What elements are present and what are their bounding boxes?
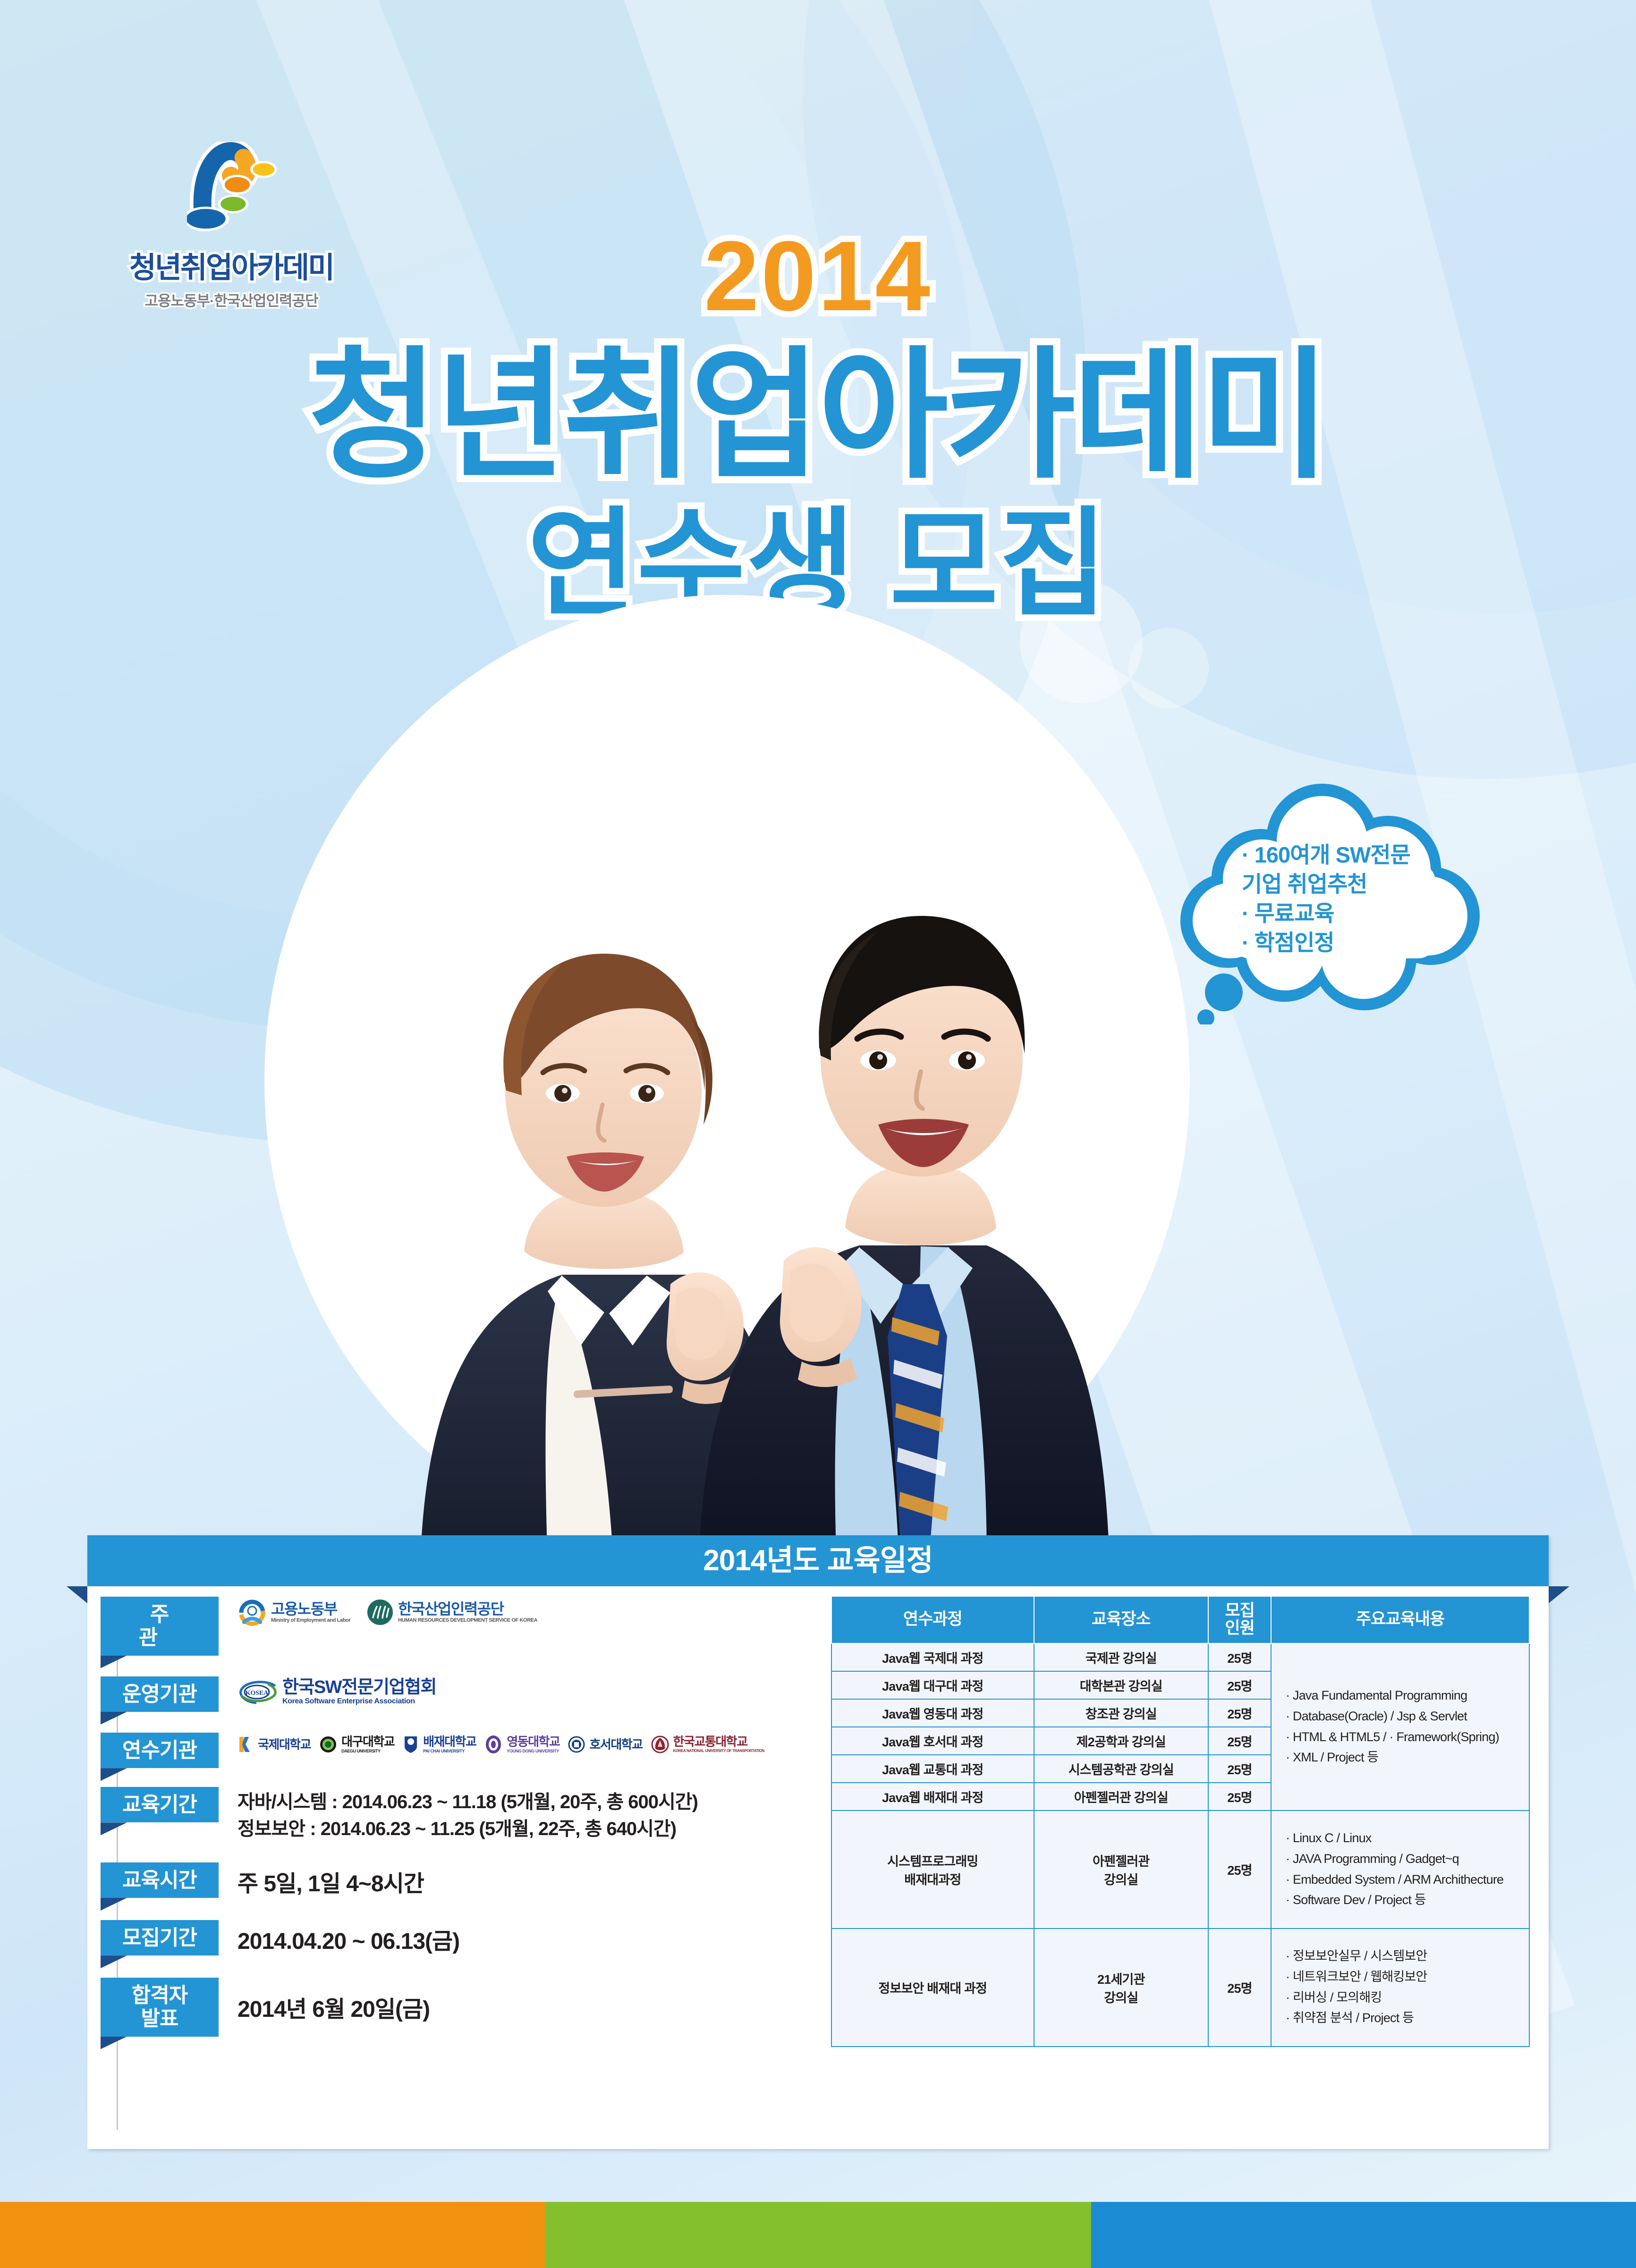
schedule-header-title: 2014년도 교육일정 — [87, 1535, 1549, 1586]
cell-course: Java웹 영동대 과정 — [831, 1699, 1034, 1727]
cell-course: Java웹 호서대 과정 — [831, 1727, 1034, 1755]
brand-ko-label: 영동대학교 — [507, 1735, 559, 1748]
title-line-1: 청년취업아카데미 — [0, 334, 1636, 497]
info-value-recruit-period: 2014.04.20 ~ 06.13(금) — [219, 1920, 824, 1958]
brand-en-label: HUMAN RESOURCES DEVELOPMENT SERVICE OF K… — [398, 1618, 537, 1623]
brand-en-label: KOREA NATIONAL UNIVERSITY OF TRANSPORTAT… — [673, 1749, 764, 1753]
daegu-univ-icon — [319, 1735, 337, 1754]
content-line: · Linux C / Linux — [1286, 1828, 1527, 1849]
info-row-announcement: 합격자 발표 2014년 6월 20일(금) — [87, 1978, 824, 2037]
th-quota: 모집 인원 — [1208, 1596, 1271, 1643]
content-line: · 정보보안실무 / 시스템보안 — [1286, 1946, 1527, 1967]
recruit-period-text: 2014.04.20 ~ 06.13(금) — [237, 1926, 824, 1958]
info-row-recruit-period: 모집기간 2014.04.20 ~ 06.13(금) — [87, 1920, 824, 1958]
brand-youngdong-univ: 영동대학교 YOUNG DONG UNIVERSITY — [484, 1735, 559, 1754]
content-line: · JAVA Programming / Gadget~q — [1286, 1849, 1527, 1870]
info-label-recruit-period: 모집기간 — [101, 1920, 219, 1955]
bottom-bar-blue — [1091, 2202, 1636, 2268]
bottom-color-bar — [0, 2202, 1636, 2268]
transport-univ-icon — [651, 1735, 669, 1754]
brand-hoseo-univ: 호서대학교 — [568, 1735, 642, 1754]
kookje-univ-icon — [237, 1735, 254, 1754]
cell-quota: 25명 — [1208, 1727, 1271, 1755]
brand-en-label: DAEGU UNIVERSITY — [341, 1749, 394, 1753]
info-label-training-period: 교육기간 — [101, 1787, 219, 1822]
training-period-line-1: 자바/시스템 : 2014.06.23 ~ 11.18 (5개월, 20주, 총… — [237, 1789, 824, 1816]
brand-en-label: YOUNG DONG UNIVERSITY — [507, 1749, 559, 1753]
info-row-host: 주 관 고용노동부 Ministry of Employment and Lab… — [87, 1597, 824, 1656]
brand-employment-labor: 고용노동부 Ministry of Employment and Labor — [237, 1599, 350, 1626]
brand-transport-univ: 한국교통대학교 KOREA NATIONAL UNIVERSITY OF TRA… — [651, 1735, 764, 1754]
brand-kosea: KOSEA 한국SW전문기업협회 Korea Software Enterpri… — [237, 1678, 436, 1705]
tab-fold-icon — [101, 1822, 127, 1835]
info-value-host: 고용노동부 Ministry of Employment and Labor — [219, 1597, 824, 1626]
schedule-header-bar: 2014년도 교육일정 — [87, 1535, 1549, 1586]
cell-course: Java웹 대구대 과정 — [831, 1671, 1034, 1699]
info-value-operator: KOSEA 한국SW전문기업협회 Korea Software Enterpri… — [219, 1676, 824, 1705]
content-line: · 취약점 분석 / Project 등 — [1286, 2008, 1527, 2029]
brand-daegu-univ: 대구대학교 DAEGU UNIVERSITY — [319, 1735, 394, 1754]
cell-course: 시스템프로그래밍 배재대과정 — [831, 1811, 1034, 1929]
title-year: 2014 — [0, 227, 1636, 326]
info-label-operator: 운영기관 — [101, 1676, 219, 1712]
content-line: · 리버싱 / 모의해킹 — [1286, 1988, 1527, 2008]
bubble-line-3: · 무료교육 — [1242, 899, 1464, 928]
bubble-line-4: · 학점인정 — [1242, 928, 1464, 957]
schedule-panel: 2014년도 교육일정 주 관 고 — [87, 1535, 1549, 2149]
cell-content-java: · Java Fundamental Programming · Databas… — [1271, 1643, 1529, 1811]
employment-labor-icon — [237, 1599, 267, 1626]
cell-place: 시스템공학관 강의실 — [1034, 1755, 1209, 1783]
brand-paichai-univ: 배재대학교 PAI CHAI UNIVERSITY — [403, 1735, 476, 1754]
bottom-bar-orange — [0, 2202, 545, 2268]
cell-place: 국제관 강의실 — [1034, 1643, 1209, 1671]
announcement-text: 2014년 6월 20일(금) — [237, 1994, 824, 2026]
tab-fold-icon — [101, 1656, 127, 1668]
cell-course: Java웹 교통대 과정 — [831, 1755, 1034, 1783]
brand-en-label: Ministry of Employment and Labor — [271, 1618, 350, 1623]
info-rows-column: 주 관 고용노동부 Ministry of Employment and Lab… — [87, 1597, 824, 2045]
cell-quota: 25명 — [1208, 1643, 1271, 1671]
course-table-wrapper: 연수과정 교육장소 모집 인원 주요교육내용 Java웹 국제대 과정 국제관 … — [831, 1596, 1530, 2047]
cell-quota: 25명 — [1208, 1811, 1271, 1929]
cell-course: Java웹 국제대 과정 — [831, 1643, 1034, 1671]
content-line: · HTML & HTML5 / · Framework(Spring) — [1286, 1727, 1527, 1748]
brand-ko-label: 배재대학교 — [423, 1735, 476, 1748]
content-line: · Software Dev / Project 등 — [1286, 1890, 1527, 1911]
th-content: 주요교육내용 — [1271, 1596, 1529, 1643]
cell-content-security: · 정보보안실무 / 시스템보안 · 네트워크보안 / 웹해킹보안 · 리버싱 … — [1271, 1929, 1529, 2047]
tab-fold-icon — [101, 2037, 127, 2049]
hoseo-univ-icon — [568, 1735, 585, 1754]
info-label-host: 주 관 — [101, 1597, 219, 1656]
tab-fold-icon — [101, 1955, 127, 1968]
brand-hrdkorea: 한국산업인력공단 HUMAN RESOURCES DEVELOPMENT SER… — [366, 1599, 537, 1626]
course-table-header-row: 연수과정 교육장소 모집 인원 주요교육내용 — [831, 1596, 1529, 1643]
cell-place: 21세기관 강의실 — [1034, 1929, 1209, 2047]
brand-ko-label: 국제대학교 — [258, 1738, 311, 1751]
bottom-bar-green — [545, 2202, 1091, 2268]
brand-ko-label: 한국SW전문기업협회 — [282, 1678, 436, 1696]
course-table: 연수과정 교육장소 모집 인원 주요교육내용 Java웹 국제대 과정 국제관 … — [831, 1596, 1530, 2047]
brand-ko-label: 한국산업인력공단 — [398, 1601, 537, 1616]
cell-place: 창조관 강의실 — [1034, 1699, 1209, 1727]
content-line: · Database(Oracle) / Jsp & Servlet — [1286, 1706, 1527, 1727]
brand-en-label: Korea Software Enterprise Association — [282, 1698, 436, 1705]
info-value-training-period: 자바/시스템 : 2014.06.23 ~ 11.18 (5개월, 20주, 총… — [219, 1787, 824, 1843]
cell-quota: 25명 — [1208, 1755, 1271, 1783]
info-row-training-period: 교육기간 자바/시스템 : 2014.06.23 ~ 11.18 (5개월, 2… — [87, 1787, 824, 1843]
two-professionals-photo — [359, 718, 1124, 1567]
bubble-line-1: · 160여개 SW전문 — [1242, 840, 1464, 870]
info-row-training-institutions: 연수기관 국제대학교 — [87, 1733, 824, 1768]
info-row-training-hours: 교육시간 주 5일, 1일 4~8시간 — [87, 1862, 824, 1900]
youngdong-univ-icon — [484, 1735, 502, 1754]
info-label-announcement: 합격자 발표 — [101, 1978, 219, 2037]
cell-quota: 25명 — [1208, 1783, 1271, 1811]
man-figure — [699, 916, 1110, 1567]
brand-en-label: PAI CHAI UNIVERSITY — [423, 1749, 476, 1753]
info-value-training-hours: 주 5일, 1일 4~8시간 — [219, 1862, 824, 1900]
content-line: · XML / Project 등 — [1286, 1747, 1527, 1768]
info-value-announcement: 2014년 6월 20일(금) — [219, 1978, 824, 2026]
brand-ko-label: 고용노동부 — [271, 1601, 350, 1616]
bubble-line-2: 기업 취업추천 — [1242, 870, 1464, 899]
cell-content-system: · Linux C / Linux · JAVA Programming / G… — [1271, 1811, 1529, 1929]
cell-place: 아펜젤러관 강의실 — [1034, 1811, 1209, 1929]
hrdkorea-icon — [366, 1599, 394, 1626]
brand-ko-label: 호서대학교 — [589, 1738, 642, 1751]
info-label-training-institutions: 연수기관 — [101, 1733, 219, 1768]
brand-ko-label: 대구대학교 — [341, 1735, 394, 1748]
paichai-univ-icon — [403, 1735, 419, 1754]
table-row: Java웹 국제대 과정 국제관 강의실 25명 · Java Fundamen… — [831, 1643, 1529, 1671]
th-course: 연수과정 — [831, 1596, 1034, 1643]
table-row: 정보보안 배재대 과정 21세기관 강의실 25명 · 정보보안실무 / 시스템… — [831, 1929, 1529, 2047]
brand-kookje-univ: 국제대학교 — [237, 1735, 311, 1754]
cell-place: 제2공학과 강의실 — [1034, 1727, 1209, 1755]
cell-place: 아펜젤러관 강의실 — [1034, 1783, 1209, 1811]
tab-fold-icon — [101, 1898, 127, 1911]
bubble-text-block: · 160여개 SW전문 기업 취업추천 · 무료교육 · 학점인정 — [1242, 840, 1464, 957]
info-row-operator: 운영기관 KOSEA 한국SW전문기업협회 Korea Software Ent… — [87, 1676, 824, 1712]
brand-ko-label: 한국교통대학교 — [673, 1735, 764, 1748]
logo-mark-icon — [161, 142, 302, 241]
poster-title-block: 2014 청년취업아카데미 연수생 모집 — [0, 227, 1636, 629]
th-place: 교육장소 — [1034, 1596, 1209, 1643]
cell-course: 정보보안 배재대 과정 — [831, 1929, 1034, 2047]
svg-text:KOSEA: KOSEA — [245, 1690, 269, 1697]
cell-quota: 25명 — [1208, 1699, 1271, 1727]
cell-quota: 25명 — [1208, 1929, 1271, 2047]
cell-place: 대학본관 강의실 — [1034, 1671, 1209, 1699]
tab-fold-icon — [101, 1712, 127, 1725]
info-value-training-institutions: 국제대학교 대구대학교 DAEGU UNIVERSITY — [219, 1733, 824, 1754]
cell-quota: 25명 — [1208, 1671, 1271, 1699]
content-line: · Embedded System / ARM Archithecture — [1286, 1870, 1527, 1890]
tab-fold-icon — [101, 1768, 127, 1781]
table-row: 시스템프로그래밍 배재대과정 아펜젤러관 강의실 25명 · Linux C /… — [831, 1811, 1529, 1929]
bg-bokeh-2 — [1128, 628, 1209, 708]
content-line: · Java Fundamental Programming — [1286, 1685, 1527, 1706]
kosea-icon: KOSEA — [237, 1678, 278, 1705]
training-period-line-2: 정보보안 : 2014.06.23 ~ 11.25 (5개월, 22주, 총 6… — [237, 1816, 824, 1843]
training-hours-text: 주 5일, 1일 4~8시간 — [237, 1868, 824, 1900]
logo-hook-icon — [187, 142, 277, 231]
content-line: · 네트워크보안 / 웹해킹보안 — [1286, 1967, 1527, 1988]
cell-course: Java웹 배재대 과정 — [831, 1783, 1034, 1811]
info-label-training-hours: 교육시간 — [101, 1862, 219, 1898]
